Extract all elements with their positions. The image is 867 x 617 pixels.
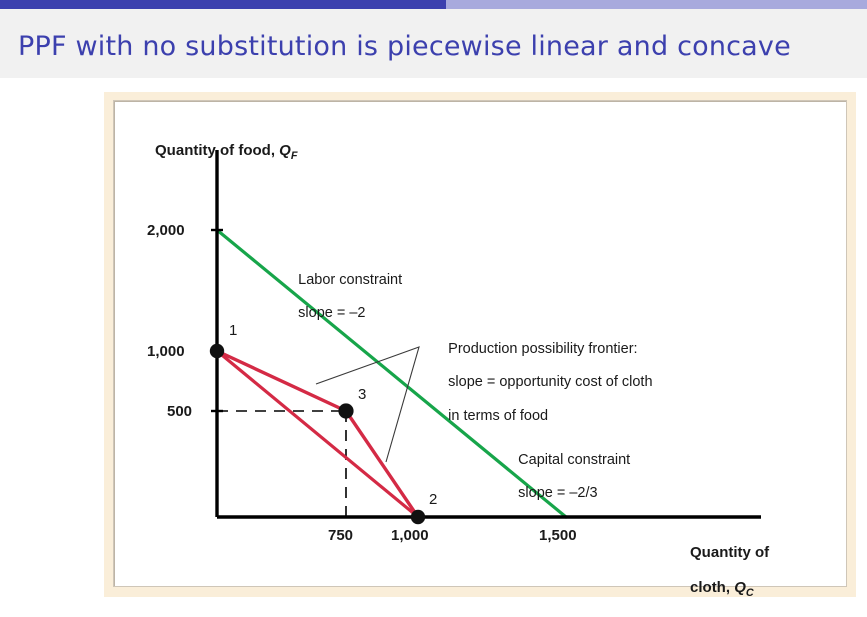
annotation-capital-constraint: Capital constraint slope = –2/3 [494,435,630,519]
data-point-marker-1 [210,344,224,358]
annotation-capital-constraint-line2: slope = –2/3 [518,485,597,501]
x-axis-title: Quantity of cloth, QC [665,527,769,617]
annotation-labor-constraint-line2: slope = –2 [298,305,365,321]
x-tick-label-1500: 1,500 [539,527,577,544]
point-label-3: 3 [358,386,366,403]
annotation-ppf-line1: Production possibility frontier: [448,341,637,357]
point-label-2: 2 [429,491,437,508]
y-tick-label-1000: 1,000 [147,343,185,360]
x-axis-title-subscript: C [746,587,754,599]
x-tick-label-1000: 1,000 [391,527,429,544]
data-point-marker-3 [338,403,353,418]
x-axis-title-symbol: Q [734,579,746,596]
x-axis-title-line1: Quantity of [690,544,769,561]
top-rule-dark-segment [0,0,446,9]
figure-frame: Quantity of food, QF 2,000 1,000 500 750… [104,92,856,597]
figure-plot-area: Quantity of food, QF 2,000 1,000 500 750… [113,100,847,587]
annotation-ppf-line3: in terms of food [448,408,548,424]
slide-title-band: PPF with no substitution is piecewise li… [0,9,867,78]
data-point-marker-2 [411,510,425,524]
top-decorative-rule [0,0,867,9]
labor-constraint-line [217,351,418,517]
annotation-capital-constraint-line1: Capital constraint [518,452,630,468]
annotation-ppf: Production possibility frontier: slope =… [424,324,653,442]
annotation-labor-constraint-line1: Labor constraint [298,272,402,288]
top-rule-light-segment [446,0,867,9]
page-title: PPF with no substitution is piecewise li… [18,31,791,62]
y-tick-label-500: 500 [167,403,192,420]
point-label-1: 1 [229,322,237,339]
annotation-labor-constraint: Labor constraint slope = –2 [274,255,402,339]
x-axis-title-line2: cloth, [690,579,734,596]
y-axis-title-symbol: Q [279,142,291,159]
annotation-ppf-line2: slope = opportunity cost of cloth [448,374,652,390]
x-tick-label-750: 750 [328,527,353,544]
y-axis-title-subscript: F [291,150,298,162]
y-tick-label-2000: 2,000 [147,222,185,239]
y-axis-title-text: Quantity of food, [155,142,279,159]
y-axis-title: Quantity of food, QF [130,125,297,180]
